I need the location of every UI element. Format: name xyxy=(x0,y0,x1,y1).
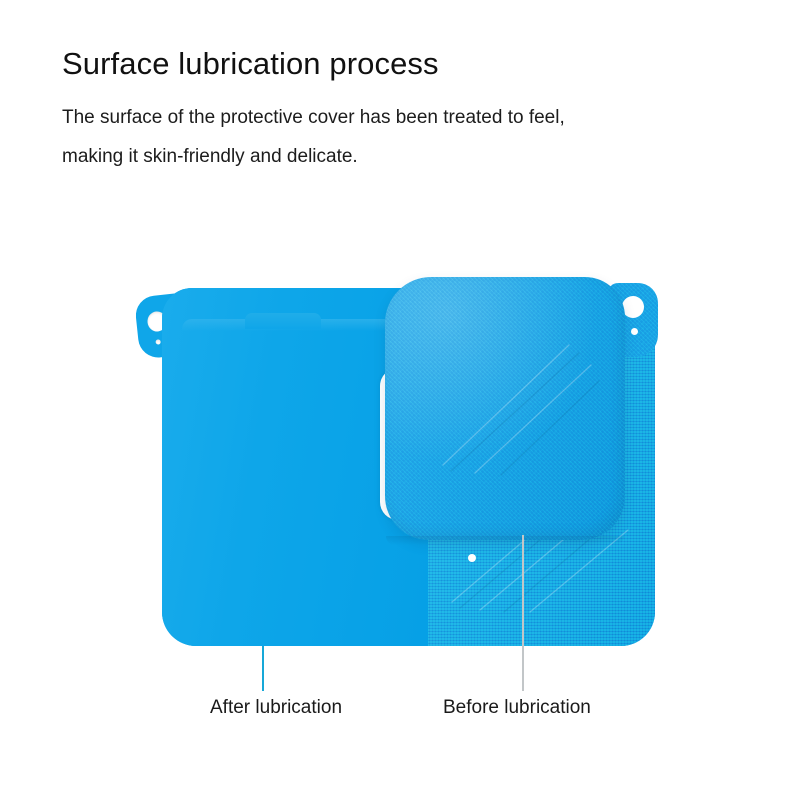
product-image xyxy=(0,255,800,655)
callout-label-after: After lubrication xyxy=(210,696,342,720)
lens-cap-seam xyxy=(386,536,624,545)
lanyard-pinhole-left xyxy=(155,339,160,344)
intro-text-block: Surface lubrication process The surface … xyxy=(62,44,762,176)
lanyard-hole-right xyxy=(622,296,644,318)
lanyard-pinhole-right xyxy=(631,328,638,335)
leader-line-after xyxy=(262,646,264,691)
button-bump xyxy=(245,313,321,329)
description-line-2: making it skin-friendly and delicate. xyxy=(62,137,722,176)
lens-cap xyxy=(385,277,625,540)
microphone-hole xyxy=(468,554,476,562)
description-line-1: The surface of the protective cover has … xyxy=(62,98,722,137)
lens-cap-grain-texture xyxy=(385,277,625,540)
page-title: Surface lubrication process xyxy=(62,44,762,84)
leader-line-before xyxy=(522,535,524,691)
scuff-lines-lens-cap xyxy=(439,329,609,479)
callout-label-before: Before lubrication xyxy=(443,696,591,720)
